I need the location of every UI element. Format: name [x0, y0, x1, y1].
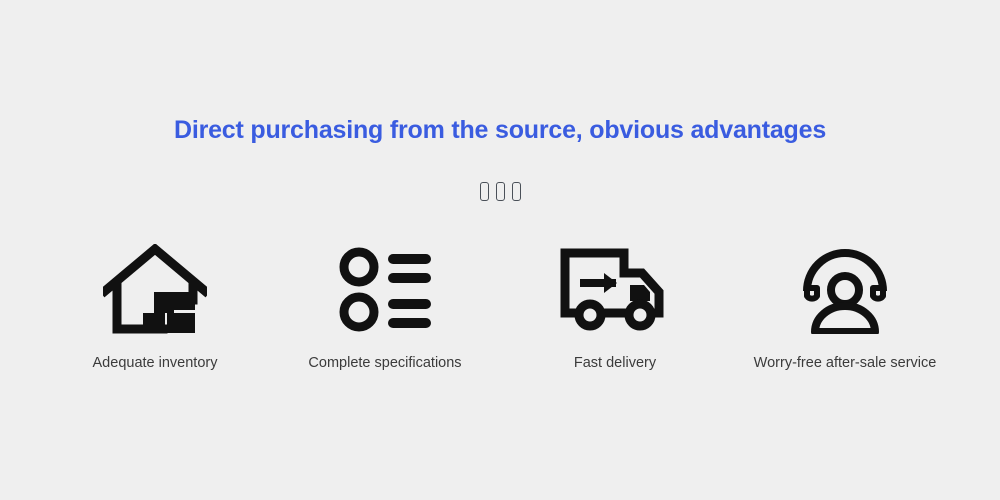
feature-list: Adequate inventory Complete specific [40, 240, 960, 372]
specification-list-icon [337, 240, 433, 340]
feature-label-support: Worry-free after-sale service [754, 354, 937, 372]
separator-glyph-3 [512, 182, 521, 201]
separator-glyph-1 [480, 182, 489, 201]
promo-banner: Direct purchasing from the source, obvio… [0, 0, 1000, 500]
feature-item-inventory: Adequate inventory [40, 240, 270, 372]
feature-item-specifications: Complete specifications [270, 240, 500, 372]
separator-glyph-2 [496, 182, 505, 201]
page-title: Direct purchasing from the source, obvio… [0, 112, 1000, 148]
feature-label-inventory: Adequate inventory [93, 354, 218, 372]
feature-label-delivery: Fast delivery [574, 354, 656, 372]
feature-item-support: Worry-free after-sale service [730, 240, 960, 372]
delivery-truck-icon [560, 240, 670, 340]
feature-item-delivery: Fast delivery [500, 240, 730, 372]
feature-label-specifications: Complete specifications [308, 354, 461, 372]
warehouse-house-icon [103, 240, 207, 340]
glyph-separator [0, 178, 1000, 204]
headset-support-icon [799, 240, 891, 340]
